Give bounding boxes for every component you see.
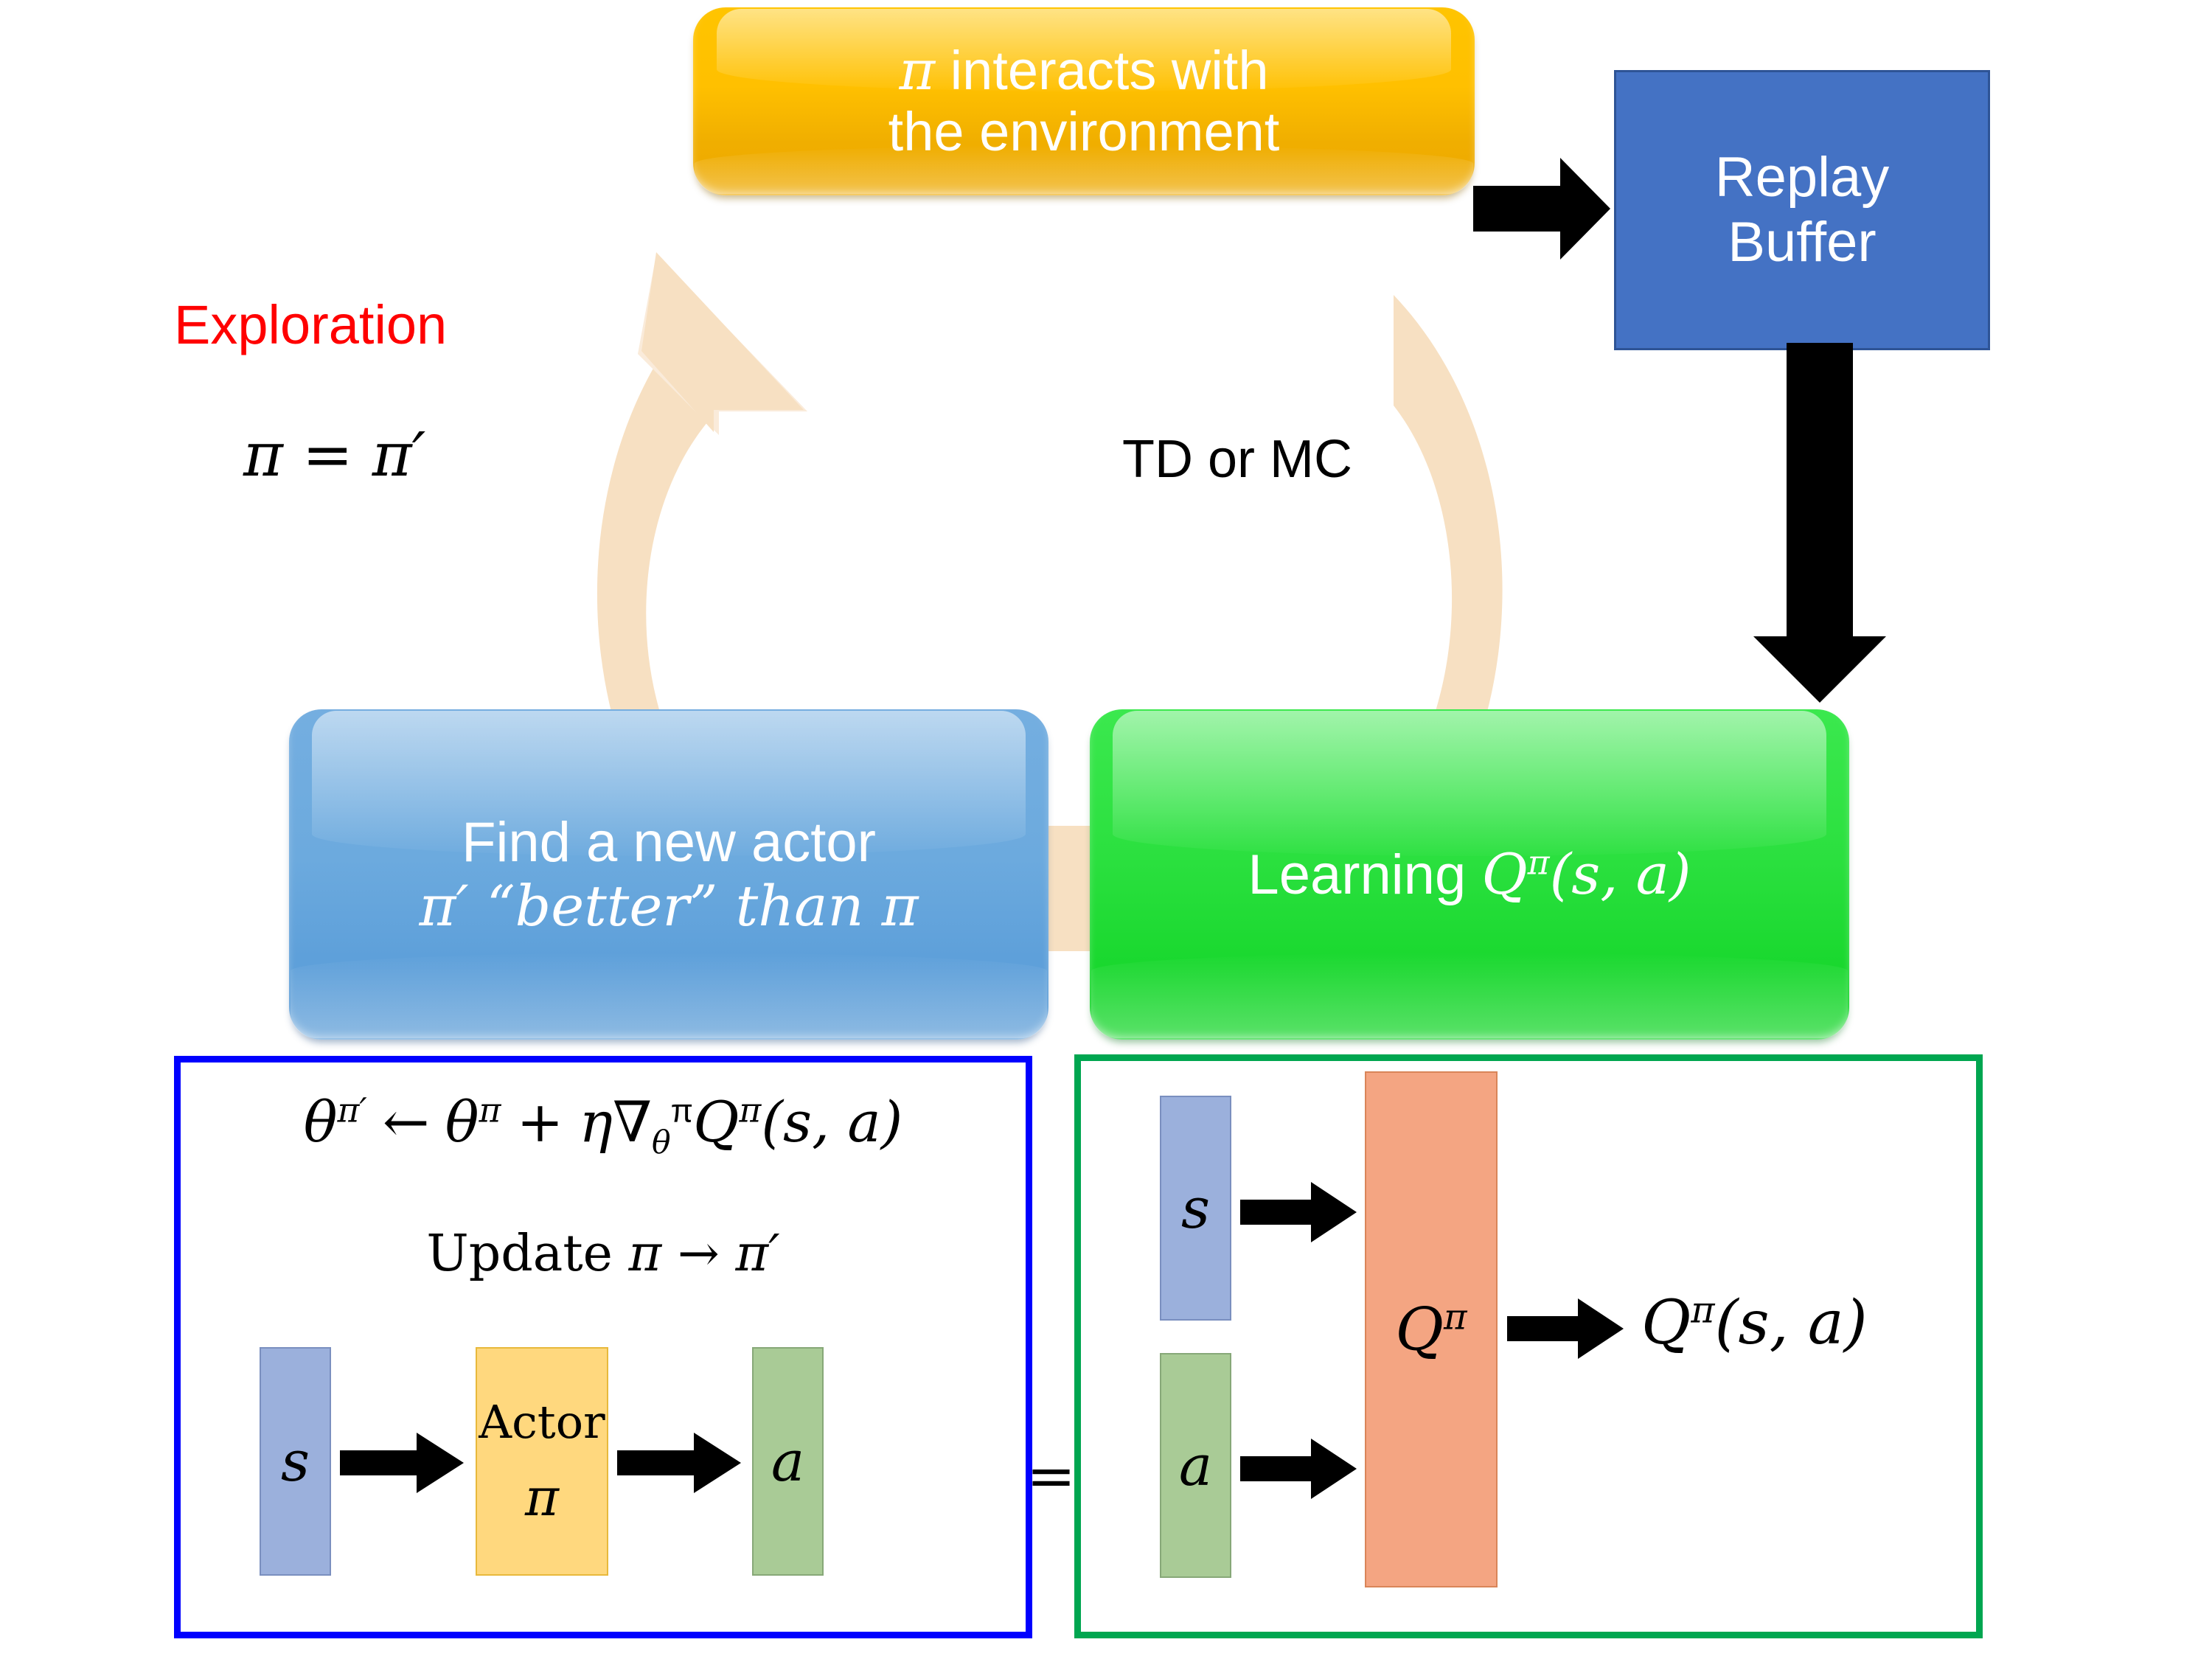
q-network-label-group: Qπ: [1395, 1298, 1467, 1360]
q-symbol: Q: [1481, 841, 1527, 907]
learning-q-text: Learning Qπ(s, a): [1103, 843, 1836, 906]
pi-prime-symbol: π′: [735, 1225, 779, 1283]
replay-buffer-line2: Buffer: [1715, 210, 1890, 275]
diagram-canvas: π interacts with the environment Replay …: [0, 0, 2212, 1659]
arrow-state-to-actor: [340, 1430, 465, 1496]
q-output-label: Qπ(s, a): [1641, 1288, 1868, 1358]
q-superscript-pi: π: [1528, 844, 1550, 883]
pi-equals-pi-prime-label: π = π′: [243, 420, 425, 490]
q-output-superscript: π: [1691, 1289, 1714, 1332]
actor-detail-panel: θπ′ ← θπ + η∇θπQπ(s, a) Update π → π′ s …: [174, 1056, 1032, 1638]
environment-box-line1-rest: interacts with: [935, 40, 1268, 101]
plus-operator: +: [517, 1089, 564, 1155]
theta-old: θ: [445, 1089, 479, 1155]
replay-buffer-box[interactable]: Replay Buffer: [1614, 70, 1990, 350]
nabla-subscript-pi: π: [671, 1093, 693, 1130]
critic-detail-panel: s Qπ a Qπ(s, a): [1074, 1054, 1983, 1638]
pi-equals-pi-prime-text: π = π′: [243, 420, 425, 490]
arrow-env-to-replay-buffer: [1473, 153, 1613, 264]
actor-network-pi: π: [525, 1471, 559, 1526]
rightarrow: →: [661, 1225, 735, 1283]
theta-new-superscript: π′: [337, 1091, 366, 1130]
q-arguments: (s, a): [761, 1089, 902, 1155]
actor-state-label: s: [281, 1432, 310, 1491]
environment-box-line1: π interacts with: [706, 41, 1461, 102]
q-network-superscript: π: [1444, 1296, 1467, 1338]
find-new-actor-line1: Find a new actor: [302, 811, 1035, 874]
equals-glyph: =: [1026, 1441, 1076, 1510]
q-arguments: (s, a): [1550, 841, 1691, 907]
actor-network-label: Actor: [479, 1398, 605, 1446]
update-note: Update π → π′: [181, 1225, 1026, 1283]
eta-learning-rate: η: [579, 1089, 613, 1155]
find-new-actor-box[interactable]: Find a new actor π′ “better” than π: [289, 709, 1048, 1040]
learning-prefix: Learning: [1248, 844, 1481, 906]
critic-action-label: a: [1179, 1436, 1212, 1495]
arrow-action-to-q: [1240, 1436, 1358, 1502]
arrow-q-to-output: [1507, 1295, 1625, 1362]
environment-box[interactable]: π interacts with the environment: [693, 7, 1475, 195]
assign-arrow: ←: [383, 1089, 430, 1155]
update-word: Update: [426, 1225, 628, 1283]
critic-state-block: s: [1160, 1096, 1231, 1321]
q-symbol: Q: [693, 1089, 739, 1155]
td-or-mc-label: TD or MC: [1122, 429, 1352, 490]
equals-sign-label: =: [1026, 1441, 1076, 1510]
theta-new: θ: [304, 1089, 338, 1155]
nabla-operator: ∇: [613, 1089, 652, 1155]
policy-gradient-formula: θπ′ ← θπ + η∇θπQπ(s, a): [181, 1089, 1026, 1161]
q-output-symbol: Q: [1641, 1288, 1691, 1358]
q-network-block: Qπ: [1365, 1071, 1498, 1587]
learning-q-box[interactable]: Learning Qπ(s, a): [1090, 709, 1849, 1040]
find-new-actor-line2: π′ “better” than π: [302, 874, 1035, 938]
actor-state-block: s: [260, 1347, 331, 1576]
arrow-actor-to-action: [617, 1430, 742, 1496]
actor-action-block: a: [752, 1347, 824, 1576]
pi-symbol: π: [882, 873, 919, 939]
theta-old-superscript: π: [479, 1091, 501, 1130]
critic-action-block: a: [1160, 1353, 1231, 1578]
environment-box-line2: the environment: [706, 102, 1461, 163]
q-network-label: Q: [1395, 1295, 1444, 1363]
replay-buffer-line1: Replay: [1715, 145, 1890, 210]
q-output-arguments: (s, a): [1715, 1288, 1868, 1358]
exploration-label: Exploration: [174, 293, 447, 356]
arrow-state-to-q: [1240, 1179, 1358, 1245]
pi-symbol: π: [899, 39, 935, 102]
arrow-replay-buffer-to-critic: [1746, 343, 1893, 704]
actor-network-block: Actor π: [476, 1347, 608, 1576]
pi-prime-better-text: π′ “better” than: [419, 873, 881, 939]
nabla-subscript-theta: θ: [652, 1124, 671, 1161]
q-superscript-pi: π: [739, 1091, 761, 1130]
critic-state-label: s: [1181, 1179, 1210, 1238]
actor-action-label: a: [771, 1432, 804, 1491]
pi-symbol: π: [629, 1225, 662, 1283]
